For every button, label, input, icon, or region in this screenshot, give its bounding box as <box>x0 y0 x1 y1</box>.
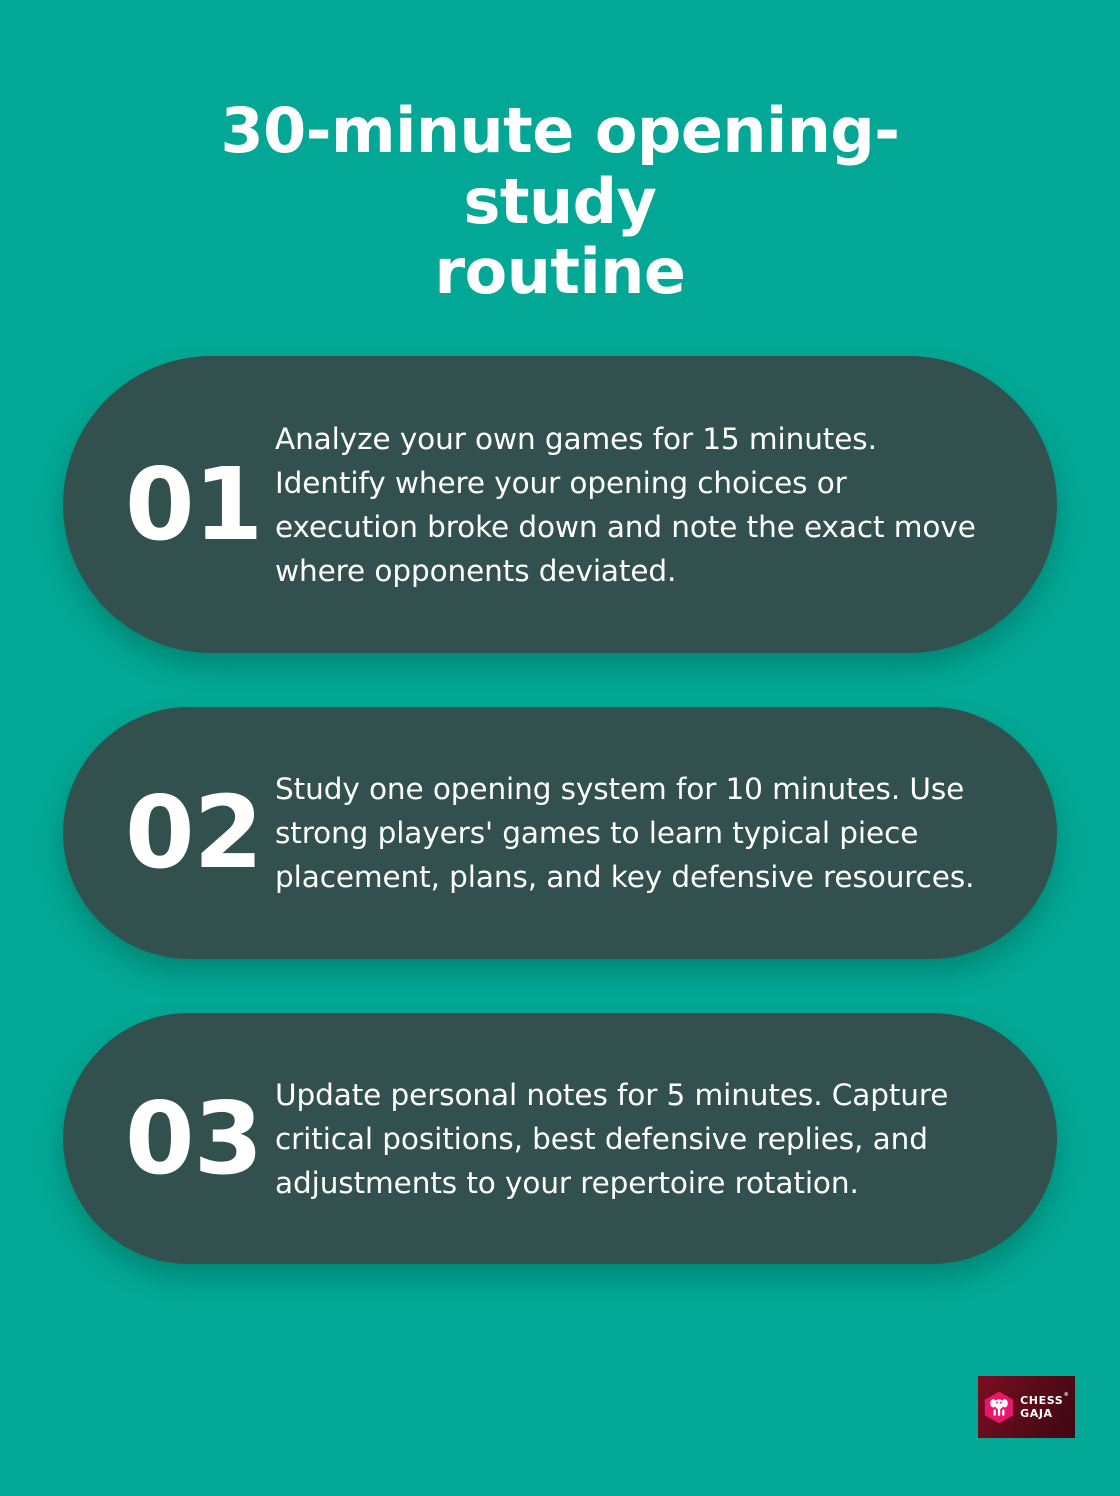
brand-logo: CHESS® GAJA <box>978 1376 1075 1438</box>
registered-trademark-icon: ® <box>1064 1392 1070 1398</box>
logo-line-chess: CHESS® <box>1020 1395 1069 1406</box>
step-card: 01 Analyze your own games for 15 minutes… <box>63 356 1057 653</box>
step-text: Study one opening system for 10 minutes.… <box>275 767 990 899</box>
steps-list: 01 Analyze your own games for 15 minutes… <box>63 356 1057 1264</box>
step-number: 03 <box>125 1089 275 1189</box>
step-card: 03 Update personal notes for 5 minutes. … <box>63 1013 1057 1264</box>
step-text: Update personal notes for 5 minutes. Cap… <box>275 1073 975 1205</box>
step-card: 02 Study one opening system for 10 minut… <box>63 707 1057 959</box>
step-number: 01 <box>125 455 275 555</box>
logo-wordmark: CHESS® GAJA <box>1020 1395 1069 1419</box>
header: 30-minute opening-study routine <box>0 0 1120 308</box>
page-title: 30-minute opening-study routine <box>130 96 990 308</box>
elephant-hexagon-icon <box>984 1391 1014 1424</box>
step-number: 02 <box>125 783 275 883</box>
step-text: Analyze your own games for 15 minutes. I… <box>275 417 999 593</box>
logo-line-gaja: GAJA <box>1020 1408 1069 1419</box>
